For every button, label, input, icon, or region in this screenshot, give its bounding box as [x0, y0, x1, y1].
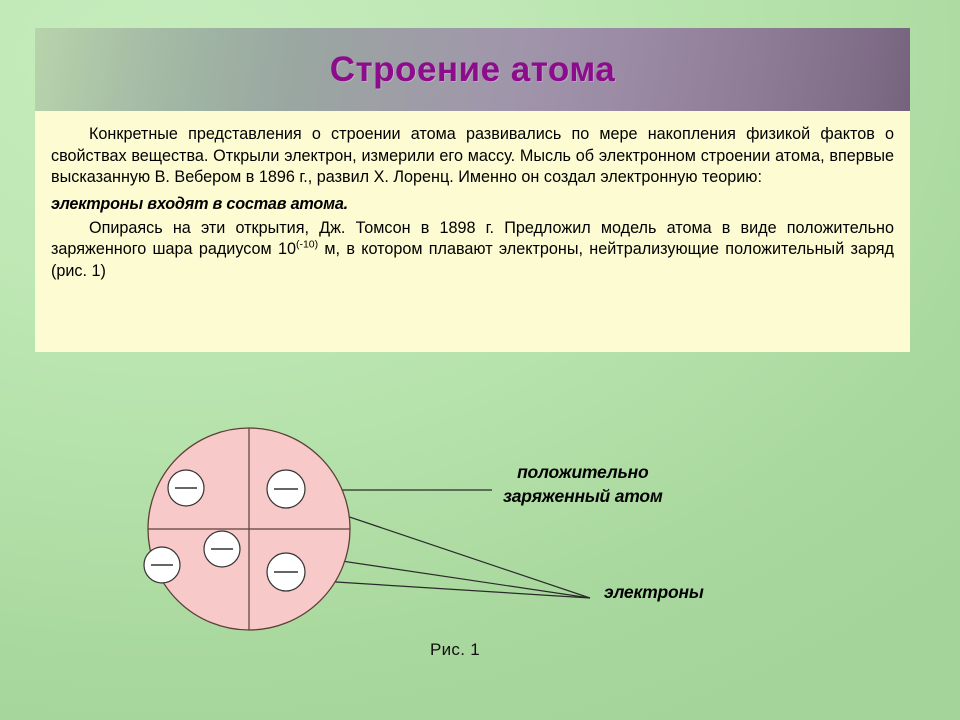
page-title: Строение атома: [35, 28, 910, 111]
slide-root: Строение атома Конкретные представления …: [0, 0, 960, 720]
electron: [168, 470, 204, 506]
leader-line-electron-3: [304, 580, 590, 598]
electron: [204, 531, 240, 567]
label-positive-line2: заряженный атом: [503, 484, 663, 508]
label-electrons: электроны: [604, 582, 704, 603]
figure-caption: Рис. 1: [430, 640, 480, 660]
atom-diagram-svg: [0, 360, 960, 720]
title-band: Строение атома: [35, 28, 910, 111]
atom-diagram: положительно заряженный атом электроны Р…: [0, 360, 960, 720]
electron: [267, 470, 305, 508]
paragraph-intro: Конкретные представления о строении атом…: [51, 124, 894, 189]
paragraph-emphasis: электроны входят в состав атома.: [51, 193, 894, 215]
paragraph-thomson: Опираясь на эти открытия, Дж. Томсон в 1…: [51, 218, 894, 283]
body-text-panel: Конкретные представления о строении атом…: [35, 111, 910, 352]
electron: [144, 547, 180, 583]
label-positive-atom: положительно заряженный атом: [503, 460, 663, 508]
exponent-superscript: (-10): [296, 239, 318, 251]
electron: [267, 553, 305, 591]
label-positive-line1: положительно: [503, 460, 663, 484]
